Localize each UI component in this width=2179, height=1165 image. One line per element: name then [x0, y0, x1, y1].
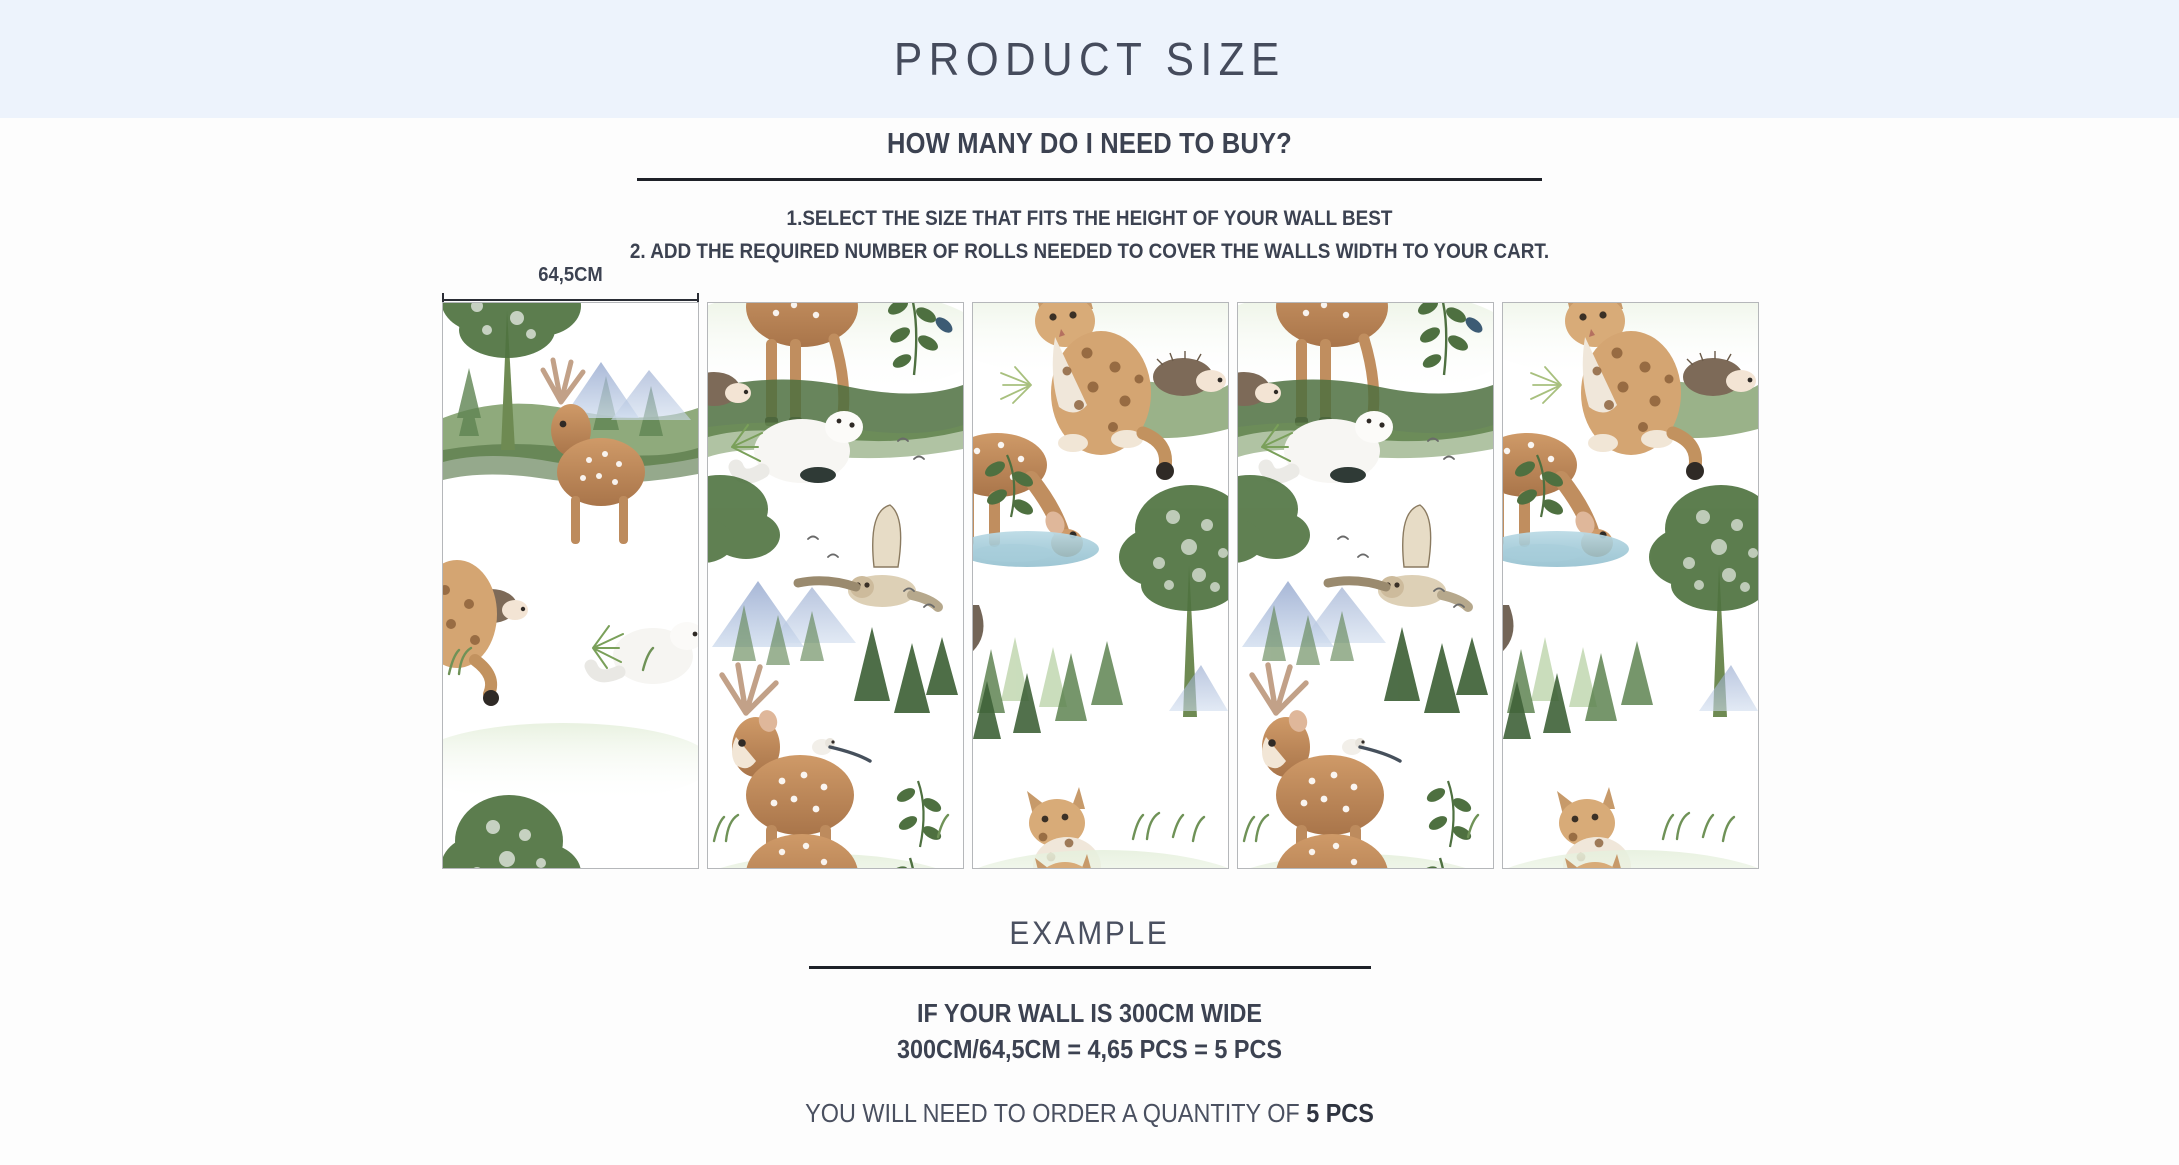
example-heading: EXAMPLE [76, 915, 2102, 952]
example-footer-value: 5 PCS [1306, 1098, 1374, 1128]
instructions-list: 1.SELECT THE SIZE THAT FITS THE HEIGHT O… [0, 203, 2179, 268]
wallpaper-artwork [1503, 302, 1758, 869]
example-line-formula: 300CM/64,5CM = 4,65 PCS = 5 PCS [109, 1031, 2070, 1068]
example-section: EXAMPLE IF YOUR WALL IS 300CM WIDE 300CM… [0, 915, 2179, 1129]
wallpaper-panel-1[interactable] [442, 302, 699, 869]
example-footer: YOU WILL NEED TO ORDER A QUANTITY OF 5 P… [109, 1098, 2070, 1129]
wallpaper-panel-strip [442, 302, 1736, 869]
wallpaper-artwork [708, 302, 963, 869]
example-calculation: IF YOUR WALL IS 300CM WIDE 300CM/64,5CM … [0, 995, 2179, 1069]
page-title: PRODUCT SIZE [894, 32, 1286, 86]
wallpaper-panel-2[interactable] [707, 302, 964, 869]
example-footer-prefix: YOU WILL NEED TO ORDER A QUANTITY OF [805, 1098, 1306, 1128]
header-band: PRODUCT SIZE [0, 0, 2179, 118]
wallpaper-artwork [1238, 302, 1493, 869]
wallpaper-panel-5[interactable] [1502, 302, 1759, 869]
wallpaper-panel-4[interactable] [1237, 302, 1494, 869]
dimension-label: 64,5CM [452, 264, 688, 287]
dimension-bar [442, 299, 699, 301]
instruction-step-2: 2. ADD THE REQUIRED NUMBER OF ROLLS NEED… [109, 236, 2070, 269]
roll-width-dimension: 64,5CM [442, 264, 699, 306]
example-divider [809, 966, 1371, 969]
instruction-step-1: 1.SELECT THE SIZE THAT FITS THE HEIGHT O… [109, 203, 2070, 236]
wallpaper-artwork [443, 302, 698, 869]
wallpaper-artwork [973, 302, 1228, 869]
instructions-heading: HOW MANY DO I NEED TO BUY? [131, 128, 2049, 161]
wallpaper-panel-3[interactable] [972, 302, 1229, 869]
instructions-section: HOW MANY DO I NEED TO BUY? 1.SELECT THE … [0, 128, 2179, 268]
example-line-wall-width: IF YOUR WALL IS 300CM WIDE [109, 995, 2070, 1032]
heading-divider [637, 178, 1542, 181]
